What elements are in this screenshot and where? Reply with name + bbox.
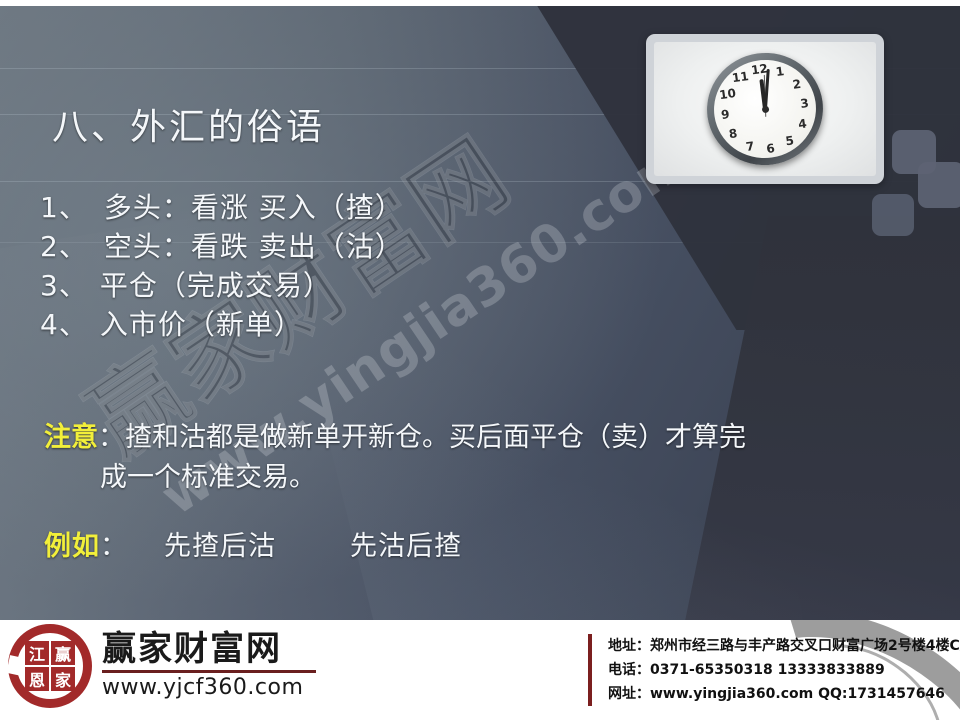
contact-label: 网址： bbox=[608, 686, 650, 702]
decorative-square-icon bbox=[918, 162, 960, 208]
contact-info: 地址：郑州市经三路与丰产路交叉口财富广场2号楼4楼C户 电话：0371-6535… bbox=[588, 634, 960, 706]
seal-character-grid: 江 赢 恩 家 bbox=[25, 641, 75, 691]
contact-value: 0371-65350318 13333833889 bbox=[650, 662, 885, 678]
list-item-number: 2、 bbox=[40, 227, 88, 266]
brand-website[interactable]: www.yjcf360.com bbox=[102, 675, 316, 700]
list-item: 3、平仓（完成交易） bbox=[40, 266, 404, 305]
slide-canvas: 赢家财富网 www.yingjia360.com 12 1 2 3 4 bbox=[0, 6, 960, 620]
list-item-label: 多头：看涨 买入（揸） bbox=[104, 191, 404, 224]
contact-value[interactable]: www.yingjia360.com QQ:1731457646 bbox=[650, 686, 945, 702]
contact-value: 郑州市经三路与丰产路交叉口财富广场2号楼4楼C户 bbox=[650, 638, 960, 654]
seal-char: 家 bbox=[51, 667, 75, 691]
clock-numeral: 7 bbox=[745, 139, 755, 154]
seal-char: 赢 bbox=[51, 641, 75, 665]
list-item: 2、空头：看跌 卖出（沽） bbox=[40, 227, 404, 266]
note-label: 注意 bbox=[44, 422, 98, 453]
contact-line-website: 网址：www.yingjia360.com QQ:1731457646 bbox=[608, 682, 960, 706]
clock-numeral: 4 bbox=[797, 116, 807, 131]
list-item-number: 1、 bbox=[40, 188, 88, 227]
list-item: 1、多头：看涨 买入（揸） bbox=[40, 188, 404, 227]
contact-label: 电话： bbox=[608, 662, 650, 678]
clock-numeral: 11 bbox=[731, 69, 749, 85]
contact-line-address: 地址：郑州市经三路与丰产路交叉口财富广场2号楼4楼C户 bbox=[608, 634, 960, 658]
page-title: 八、外汇的俗语 bbox=[52, 98, 325, 150]
list-item: 4、入市价（新单） bbox=[40, 305, 404, 344]
contact-line-phone: 电话：0371-65350318 13333833889 bbox=[608, 658, 960, 682]
list-item-label: 入市价（新单） bbox=[100, 308, 303, 341]
example-item-2: 先沽后揸 bbox=[350, 531, 462, 562]
decorative-square-icon bbox=[872, 194, 914, 236]
clock-numeral: 9 bbox=[720, 107, 730, 122]
list-item-label: 空头：看跌 卖出（沽） bbox=[104, 230, 404, 263]
seal-stamp-icon: 江 赢 恩 家 bbox=[8, 624, 92, 708]
clock-photo: 12 1 2 3 4 5 6 7 8 9 10 11 bbox=[654, 42, 876, 176]
seal-char: 江 bbox=[25, 641, 49, 665]
list-item-label: 平仓（完成交易） bbox=[100, 269, 332, 302]
wall-clock-icon: 12 1 2 3 4 5 6 7 8 9 10 11 bbox=[700, 45, 830, 172]
footer-bar: 江 赢 恩 家 赢家财富网 www.yjcf360.com 地址：郑州市经三路与… bbox=[0, 620, 960, 720]
example-item-1: 先揸后沽 bbox=[164, 531, 276, 562]
example-label: 例如 bbox=[44, 531, 100, 562]
list-item-number: 4、 bbox=[40, 305, 88, 344]
clock-photo-frame: 12 1 2 3 4 5 6 7 8 9 10 11 bbox=[646, 34, 884, 184]
contact-label: 地址： bbox=[608, 638, 650, 654]
clock-numeral: 2 bbox=[792, 77, 802, 92]
list-item-number: 3、 bbox=[40, 266, 88, 305]
brand-text: 赢家财富网 www.yjcf360.com bbox=[102, 632, 316, 701]
note-line-1: 揸和沽都是做新单开新仓。买后面平仓（卖）才算完 bbox=[125, 422, 746, 453]
seal-char: 恩 bbox=[25, 667, 49, 691]
example-block: 例如：先揸后沽先沽后揸 bbox=[44, 524, 462, 563]
brand-logo[interactable]: 江 赢 恩 家 赢家财富网 www.yjcf360.com bbox=[8, 624, 316, 708]
note-colon: ： bbox=[98, 422, 125, 453]
top-white-strip bbox=[0, 0, 960, 6]
example-colon: ： bbox=[100, 531, 128, 562]
clock-numeral: 1 bbox=[775, 64, 785, 79]
clock-numeral: 6 bbox=[765, 141, 775, 156]
slide-stage: 赢家财富网 www.yingjia360.com 12 1 2 3 4 bbox=[0, 0, 960, 720]
note-line-2: 成一个标准交易。 bbox=[100, 458, 934, 498]
terminology-list: 1、多头：看涨 买入（揸） 2、空头：看跌 卖出（沽） 3、平仓（完成交易） 4… bbox=[40, 188, 404, 344]
clock-numeral: 10 bbox=[718, 86, 736, 102]
clock-numeral: 5 bbox=[785, 133, 795, 148]
clock-numeral: 3 bbox=[799, 96, 809, 111]
note-block: 注意：揸和沽都是做新单开新仓。买后面平仓（卖）才算完 成一个标准交易。 bbox=[44, 418, 934, 498]
brand-name: 赢家财富网 bbox=[102, 632, 316, 668]
clock-numeral: 8 bbox=[728, 126, 738, 141]
brand-divider bbox=[102, 670, 316, 673]
clock-center-pin bbox=[761, 105, 769, 113]
